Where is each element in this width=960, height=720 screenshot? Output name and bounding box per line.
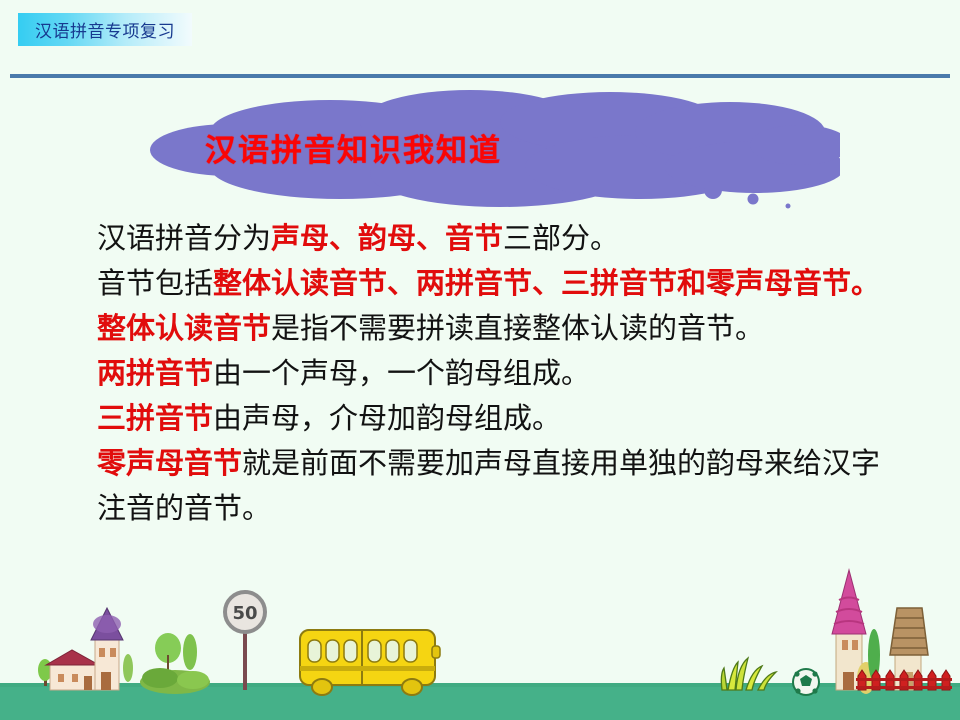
body-line-2-highlight: 整体认读音节、两拼音节、三拼音节和零声母音节 — [213, 266, 851, 300]
body-line-1-part-3: 三部分。 — [503, 221, 619, 255]
body-line-1-part-1: 汉语拼音分为 — [97, 221, 271, 255]
body-line-4-part-2: 由一个声母，一个韵母组成。 — [213, 356, 590, 390]
cypress-tree-icon — [123, 654, 133, 682]
thought-bubble-large-icon — [704, 181, 722, 199]
header-tab-label: 汉语拼音专项复习 — [35, 17, 175, 42]
header-tab[interactable]: 汉语拼音专项复习 — [18, 13, 192, 46]
body-line-5: 三拼音节由声母，介母加韵母组成。 — [97, 396, 897, 441]
body-line-6-highlight: 零声母音节 — [97, 446, 242, 480]
body-line-6: 零声母音节就是前面不需要加声母直接用单独的韵母来给汉字注音的音节。 — [97, 441, 897, 531]
bush-icon — [140, 633, 210, 694]
body-line-4-highlight: 两拼音节 — [97, 356, 213, 390]
body-line-1-highlight: 声母、韵母、音节 — [271, 221, 503, 255]
scenery-illustration: 50 — [0, 560, 960, 720]
body-line-1: 汉语拼音分为声母、韵母、音节三部分。 — [97, 216, 897, 261]
thought-bubble-group — [696, 176, 806, 216]
slide-canvas: 汉语拼音专项复习 汉语拼音知识我知道 汉语拼音分为声母、韵母、音 — [0, 0, 960, 720]
house-icon — [46, 650, 99, 690]
school-bus-icon — [300, 630, 440, 695]
pink-castle-icon — [832, 570, 875, 694]
header-divider-rule — [10, 74, 950, 78]
body-line-2: 音节包括整体认读音节、两拼音节、三拼音节和零声母音节。 — [97, 261, 897, 306]
speed-limit-sign-text: 50 — [232, 603, 257, 624]
body-line-5-highlight: 三拼音节 — [97, 401, 213, 435]
body-line-4: 两拼音节由一个声母，一个韵母组成。 — [97, 351, 897, 396]
body-line-5-part-2: 由声母，介母加韵母组成。 — [213, 401, 561, 435]
body-text-block: 汉语拼音分为声母、韵母、音节三部分。 音节包括整体认读音节、两拼音节、三拼音节和… — [97, 216, 897, 531]
body-line-2-part-1: 音节包括 — [97, 266, 213, 300]
soccer-ball-icon — [793, 669, 819, 695]
speed-limit-sign-icon: 50 — [225, 592, 265, 690]
thought-bubble-small-icon — [786, 204, 791, 209]
page-title: 汉语拼音知识我知道 — [205, 125, 502, 170]
body-line-3-part-2: 是指不需要拼读直接整体认读的音节。 — [271, 311, 764, 345]
thought-bubble-medium-icon — [748, 194, 759, 205]
purple-tower-icon — [91, 608, 123, 690]
body-line-2-part-3: 。 — [851, 266, 880, 300]
body-line-3: 整体认读音节是指不需要拼读直接整体认读的音节。 — [97, 306, 897, 351]
body-line-3-highlight: 整体认读音节 — [97, 311, 271, 345]
